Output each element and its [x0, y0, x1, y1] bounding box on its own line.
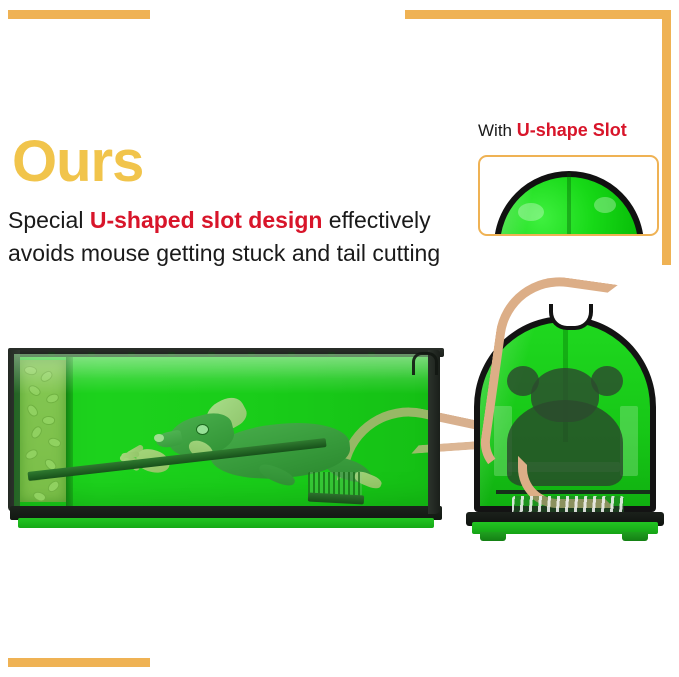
vent-hole — [48, 352, 55, 356]
u-shape-slot-icon — [412, 352, 438, 375]
vent-hole — [328, 352, 335, 356]
grain-bait-icon — [23, 364, 38, 377]
mouse-trap-side-view — [8, 346, 448, 536]
vent-hole — [288, 352, 295, 356]
vent-hole — [88, 352, 95, 356]
trap-end-cap-left — [8, 350, 20, 512]
arch-seam-line — [567, 173, 571, 235]
vent-hole — [368, 352, 375, 356]
inset-image-box — [478, 155, 659, 236]
grain-bait-icon — [24, 448, 39, 461]
mouse-eye — [196, 424, 209, 435]
body-text-line1-pre: Special — [8, 207, 90, 233]
grain-bait-icon — [29, 425, 44, 441]
product-image-area — [0, 300, 679, 545]
grain-bait-icon — [32, 489, 48, 502]
vent-hole — [128, 352, 135, 356]
vent-hole — [208, 352, 215, 356]
corner-bracket-top-right-horizontal — [405, 10, 671, 19]
body-text-highlight: U-shaped slot design — [90, 207, 323, 233]
grain-bait-icon — [41, 415, 55, 426]
corner-bracket-top-left — [8, 10, 150, 19]
vent-hole — [168, 352, 175, 356]
mouse-nose — [154, 434, 164, 442]
grain-bait-icon — [47, 436, 63, 450]
inset-label-highlight: U-shape Slot — [517, 120, 627, 140]
mouse-trap-front-view — [462, 310, 672, 540]
arch-gloss-spot — [594, 197, 616, 213]
grain-bait-icon — [46, 479, 62, 494]
bait-chamber — [20, 360, 66, 502]
trap-base-plate-lower — [18, 518, 434, 528]
grain-bait-icon — [27, 383, 43, 399]
marketing-graphic-stage: Ours Special U-shaped slot design effect… — [0, 0, 679, 677]
trap-top-rail — [8, 348, 444, 357]
grain-bait-icon — [45, 393, 60, 405]
body-text-line-1: Special U-shaped slot design effectively — [8, 207, 431, 234]
arch-gloss-spot — [518, 203, 544, 221]
page-title: Ours — [12, 133, 143, 191]
inset-label-pre: With — [478, 121, 517, 140]
grain-bait-icon — [39, 369, 55, 383]
trap-foot — [480, 532, 506, 541]
corner-bracket-top-right-vertical — [662, 10, 671, 265]
bait-chamber-divider — [66, 356, 73, 506]
grain-bait-icon — [25, 403, 39, 419]
inset-callout-label: With U-shape Slot — [478, 120, 627, 141]
trap-foot — [622, 532, 648, 541]
body-text-line-2: avoids mouse getting stuck and tail cutt… — [8, 240, 440, 267]
corner-bracket-bottom-left — [8, 658, 150, 667]
body-text-line1-post: effectively — [322, 207, 430, 233]
vent-hole — [248, 352, 255, 356]
